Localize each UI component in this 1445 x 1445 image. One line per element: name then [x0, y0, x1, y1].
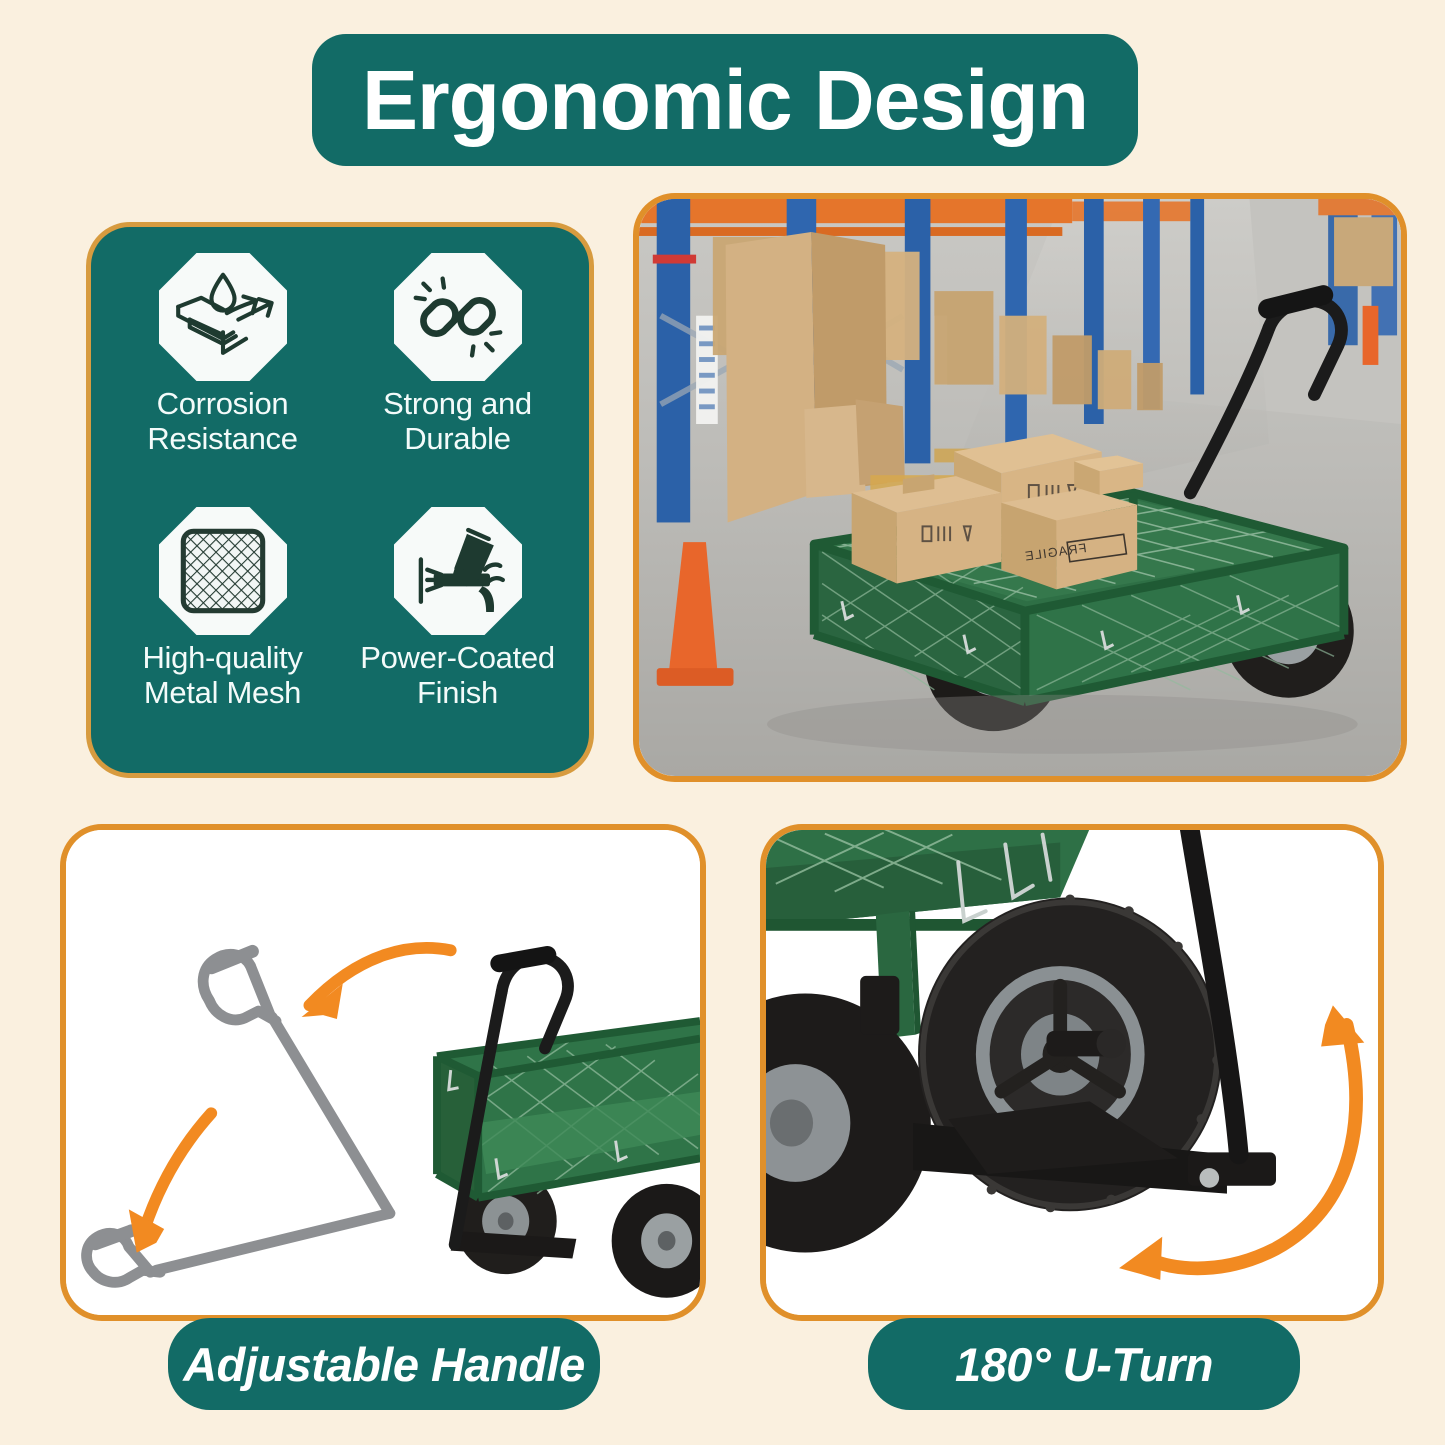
- feature-item-strong-durable: Strong and Durable: [344, 253, 571, 501]
- feature-item-corrosion-resistance: Corrosion Resistance: [109, 253, 336, 501]
- spray-gun-icon: [394, 507, 522, 635]
- feature-panel: Corrosion Resistance: [86, 222, 594, 778]
- caption-u-turn-text: 180° U-Turn: [955, 1337, 1213, 1392]
- page-title-banner: Ergonomic Design: [312, 34, 1138, 166]
- chain-link-icon: [394, 253, 522, 381]
- feature-label-power-coated-finish: Power-Coated Finish: [360, 641, 555, 710]
- feature-grid: Corrosion Resistance: [109, 253, 571, 755]
- caption-adjustable-handle: Adjustable Handle: [168, 1318, 600, 1410]
- feature-item-metal-mesh: High-quality Metal Mesh: [109, 507, 336, 755]
- main-product-photo: FRAGILE: [633, 193, 1407, 782]
- adjustable-handle-photo: [60, 824, 706, 1321]
- caption-adjustable-handle-text: Adjustable Handle: [183, 1337, 585, 1392]
- page-title: Ergonomic Design: [362, 58, 1088, 142]
- adjustable-handle-illustration: [66, 830, 700, 1315]
- feature-label-corrosion-resistance: Corrosion Resistance: [147, 387, 297, 456]
- feature-item-power-coated-finish: Power-Coated Finish: [344, 507, 571, 755]
- warehouse-cart-illustration: FRAGILE: [639, 199, 1401, 776]
- u-turn-photo: [760, 824, 1384, 1321]
- infographic-page: Ergonomic Design: [0, 0, 1445, 1445]
- caption-u-turn: 180° U-Turn: [868, 1318, 1300, 1410]
- feature-label-metal-mesh: High-quality Metal Mesh: [142, 641, 302, 710]
- metal-mesh-icon: [159, 507, 287, 635]
- feature-label-strong-durable: Strong and Durable: [383, 387, 532, 456]
- u-turn-axle-illustration: [766, 830, 1378, 1315]
- water-repellent-icon: [159, 253, 287, 381]
